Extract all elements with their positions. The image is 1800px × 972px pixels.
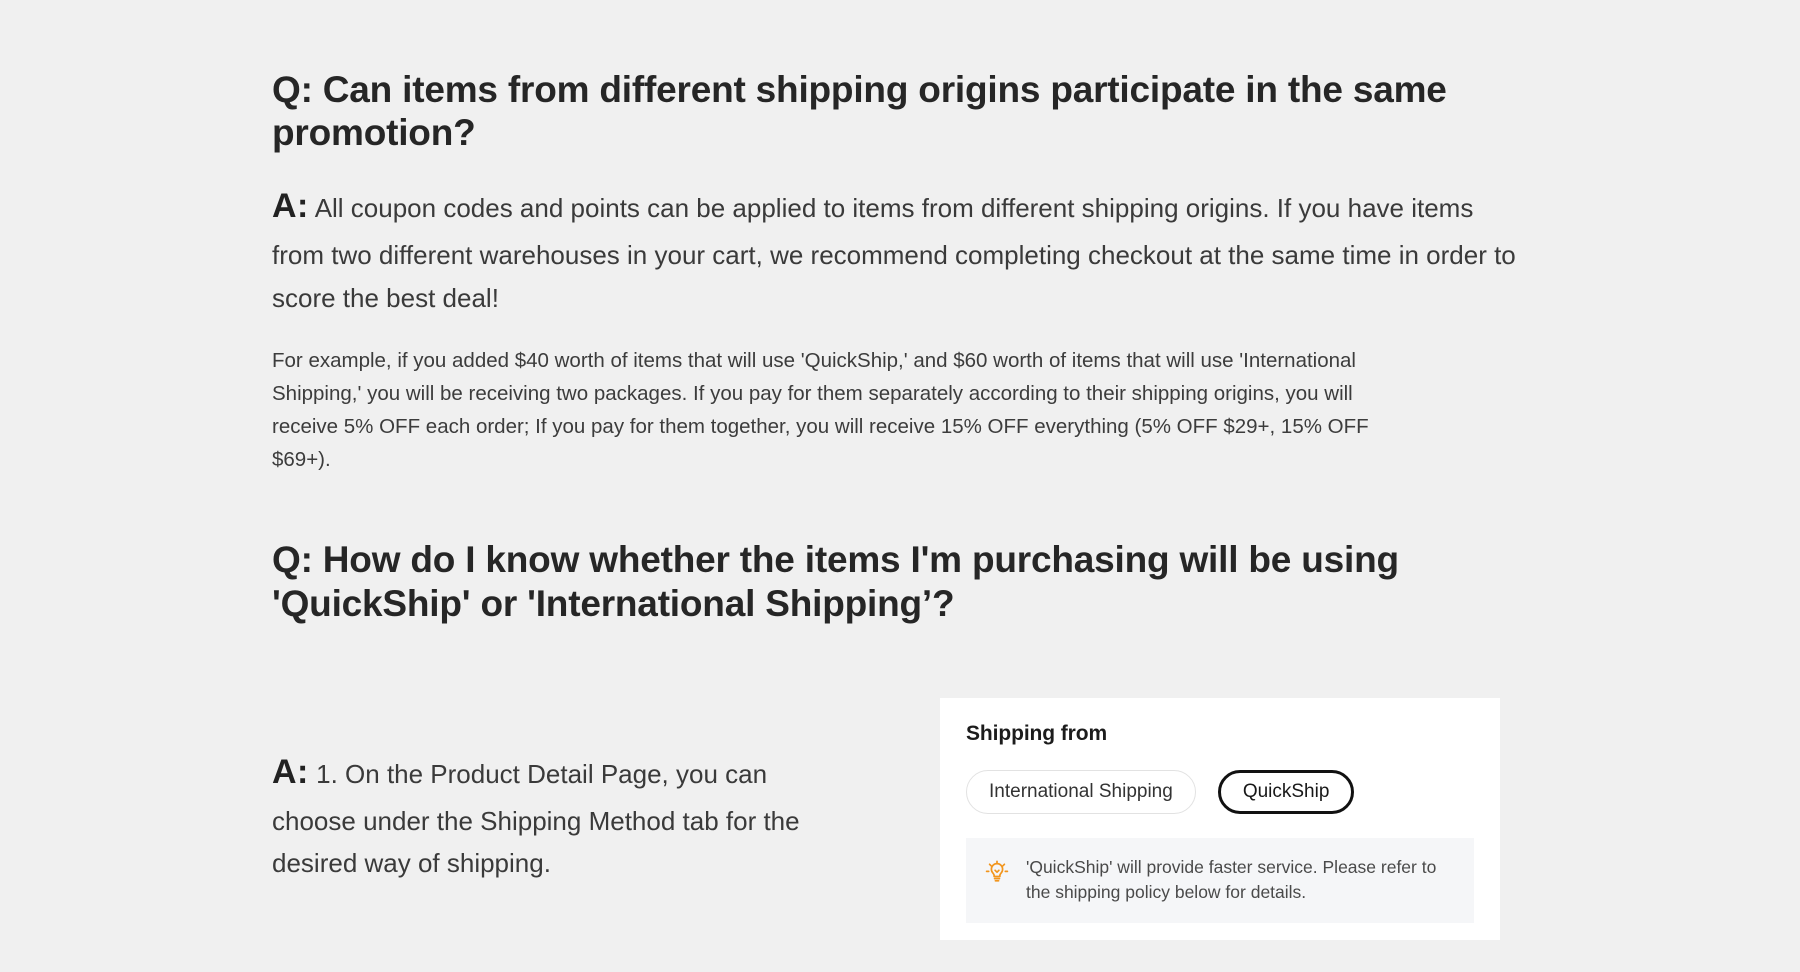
answer-1: A: All coupon codes and points can be ap… — [272, 155, 1522, 320]
answer-2: A: 1. On the Product Detail Page, you ca… — [272, 745, 842, 884]
shipping-option-quickship[interactable]: QuickShip — [1218, 770, 1355, 814]
bottom-section: A: 1. On the Product Detail Page, you ca… — [0, 700, 1800, 972]
answer-2-body: 1. On the Product Detail Page, you can c… — [272, 759, 800, 878]
shipping-option-group: International Shipping QuickShip — [966, 770, 1474, 814]
answer-1-body: All coupon codes and points can be appli… — [272, 193, 1516, 313]
shipping-option-international-shipping[interactable]: International Shipping — [966, 770, 1196, 814]
shipping-from-card: Shipping from International Shipping Qui… — [940, 698, 1500, 940]
answer-1-example: For example, if you added $40 worth of i… — [272, 320, 1372, 477]
shipping-from-title: Shipping from — [966, 722, 1474, 746]
answer-2-prefix: A: — [272, 753, 309, 791]
shipping-option-international-shipping-label: International Shipping — [989, 781, 1173, 803]
shipping-tip-text: 'QuickShip' will provide faster service.… — [1026, 855, 1456, 906]
shipping-option-quickship-label: QuickShip — [1243, 781, 1330, 803]
question-1-heading: Q: Can items from different shipping ori… — [272, 0, 1522, 155]
faq-content: Q: Can items from different shipping ori… — [272, 0, 1522, 625]
answer-1-prefix: A: — [272, 187, 309, 225]
shipping-tip-box: 'QuickShip' will provide faster service.… — [966, 838, 1474, 923]
lightbulb-icon — [982, 857, 1012, 887]
faq-page: Q: Can items from different shipping ori… — [0, 0, 1800, 972]
question-2-heading: Q: How do I know whether the items I'm p… — [272, 476, 1522, 625]
